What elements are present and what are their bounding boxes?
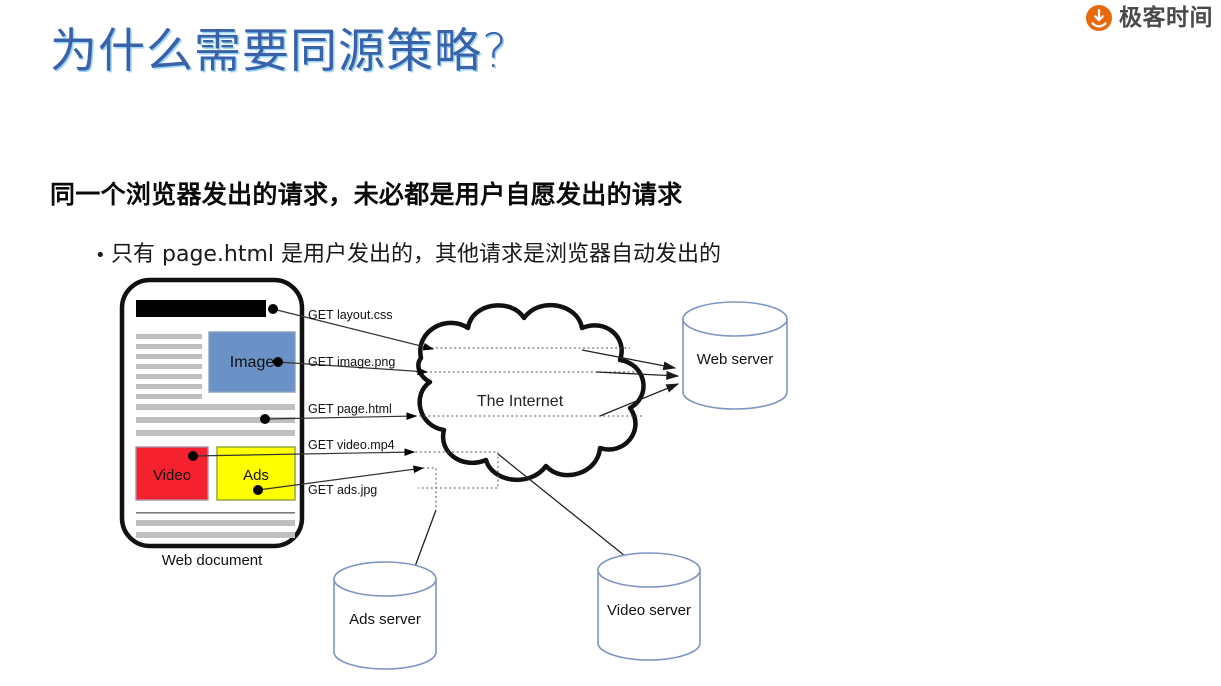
server-web-label: Web server <box>697 351 773 368</box>
request-label-layout-css: GET layout.css <box>308 308 393 322</box>
request-label-video-mp4: GET video.mp4 <box>308 438 395 452</box>
document-block-video-label: Video <box>153 467 191 484</box>
brand-name: 极客时间 <box>1119 7 1213 30</box>
bullet-marker: • <box>95 247 111 265</box>
request-label-ads-jpg: GET ads.jpg <box>308 483 377 497</box>
server-web: Web server <box>683 302 787 409</box>
cloud-label: The Internet <box>477 393 564 410</box>
section-heading: 同一个浏览器发出的请求，未必都是用户自愿发出的请求 <box>50 175 683 211</box>
server-video-label: Video server <box>607 602 691 619</box>
server-ads-label: Ads server <box>349 611 421 628</box>
server-ads: Ads server <box>334 562 436 669</box>
internet-cloud: The Internet <box>418 305 643 480</box>
web-document-mockup: Image Video Ads Web document <box>122 280 302 569</box>
network-request-diagram: Image Video Ads Web document The Intern <box>100 272 840 672</box>
document-frame <box>122 280 302 546</box>
list-item: • 只有 page.html 是用户发出的，其他请求是浏览器自动发出的 <box>95 236 721 268</box>
request-label-image-png: GET image.png <box>308 355 395 369</box>
page-title: 为什么需要同源策略? <box>50 12 508 81</box>
document-text-lines-middle <box>136 404 295 436</box>
request-label-page-html: GET page.html <box>308 402 392 416</box>
document-caption: Web document <box>162 552 263 569</box>
geektime-circle-icon <box>1085 4 1113 32</box>
server-video: Video server <box>598 553 700 660</box>
document-header-bar <box>136 300 266 317</box>
document-block-image-label: Image <box>230 354 275 371</box>
document-block-ads-label: Ads <box>243 467 269 484</box>
bullet-text: 只有 page.html 是用户发出的，其他请求是浏览器自动发出的 <box>111 236 721 268</box>
brand-logo: 极客时间 <box>1085 4 1213 32</box>
bullet-list: • 只有 page.html 是用户发出的，其他请求是浏览器自动发出的 <box>95 236 721 268</box>
